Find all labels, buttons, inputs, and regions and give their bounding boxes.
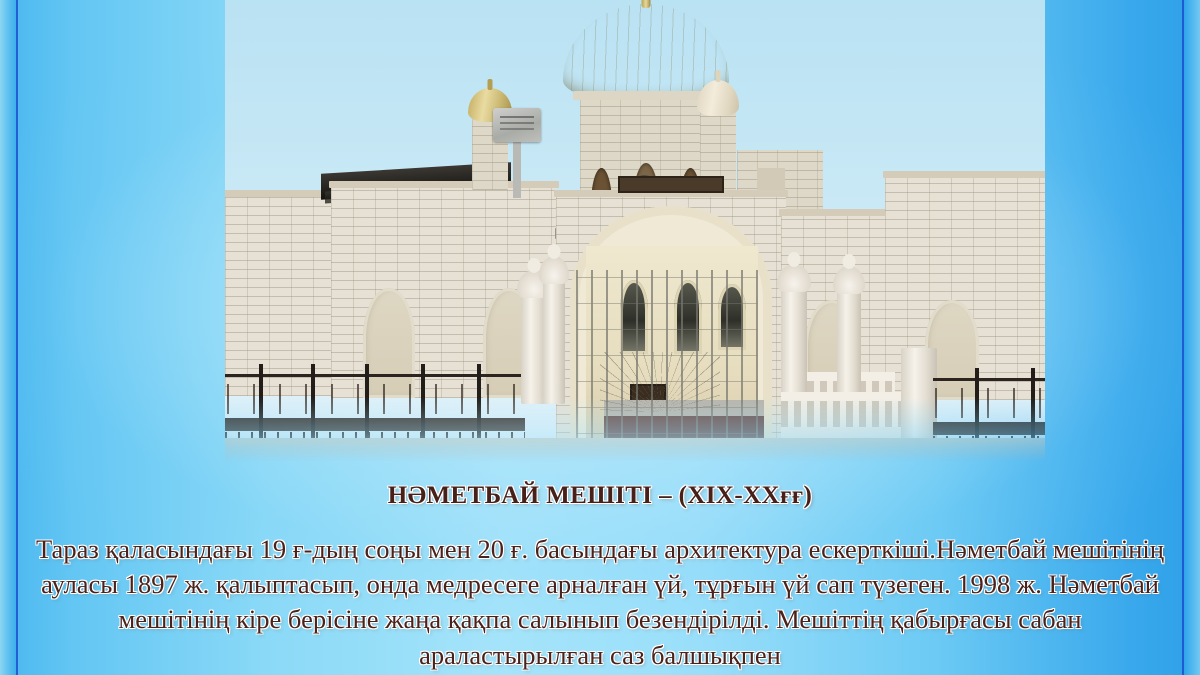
wall-far-left xyxy=(225,196,337,396)
entrance-portal xyxy=(556,170,786,460)
presentation-slide: НӘМЕТБАЙ МЕШІТІ – (XIX-XXғғ) Тараз қалас… xyxy=(0,0,1200,675)
wall-coping-left-main xyxy=(329,181,559,188)
stone-balustrade xyxy=(781,392,921,444)
stone-pillar xyxy=(543,282,565,404)
right-edge-gradient xyxy=(1184,0,1200,675)
wall-coping-far-right xyxy=(883,171,1045,178)
left-border-rule xyxy=(16,0,18,675)
plaque-post xyxy=(513,140,521,198)
body-paragraph: Тараз қаласындағы 19 ғ-дың соңы мен 20 ғ… xyxy=(34,532,1166,673)
stone-gate-pier xyxy=(901,348,937,444)
entrance-sign-band xyxy=(618,176,724,193)
information-plaque xyxy=(493,108,541,142)
page-title: НӘМЕТБАЙ МЕШІТІ – (XIX-XXғғ) xyxy=(0,482,1200,510)
right-border-rule xyxy=(1182,0,1184,675)
left-edge-gradient xyxy=(0,0,16,675)
mosque-photo xyxy=(225,0,1045,462)
ground xyxy=(225,438,1045,462)
gate-fan-ornament xyxy=(600,352,720,412)
stone-pillar xyxy=(781,290,807,408)
